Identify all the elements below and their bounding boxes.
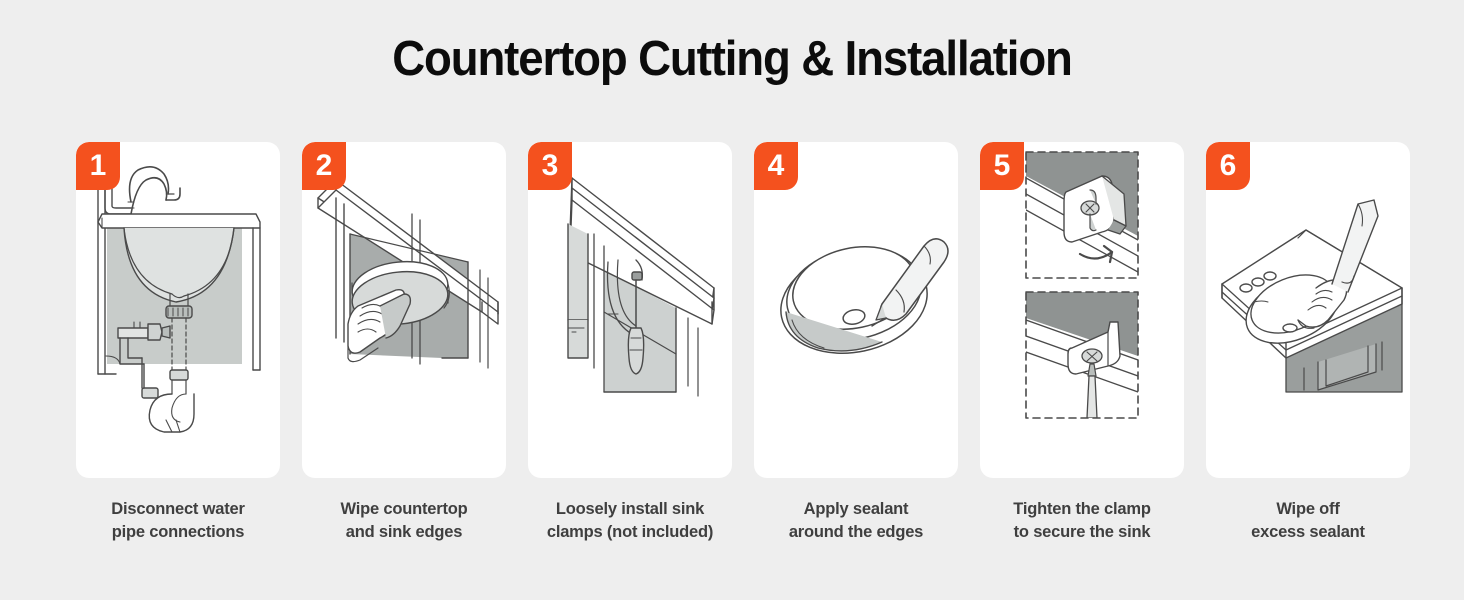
caption-line-1: Disconnect water [76, 498, 280, 521]
caption-line-1: Wipe countertop [302, 498, 506, 521]
step-item: 5 [980, 142, 1184, 544]
step-number-badge: 4 [754, 142, 798, 190]
step-item: 1 [76, 142, 280, 544]
step-item: 4 [754, 142, 958, 544]
illustration-tighten-clamp-to-secure-sink [980, 142, 1184, 478]
page-title: Countertop Cutting & Installation [51, 31, 1413, 87]
caption-line-2: clamps (not included) [528, 521, 732, 544]
illustration-disconnect-water-pipes [76, 142, 280, 478]
caption-line-2: and sink edges [302, 521, 506, 544]
step-caption: Disconnect water pipe connections [76, 498, 280, 544]
step-item: 6 [1206, 142, 1410, 544]
step-card: 2 [302, 142, 506, 478]
step-card: 3 [528, 142, 732, 478]
step-caption: Loosely install sink clamps (not include… [528, 498, 732, 544]
step-card: 5 [980, 142, 1184, 478]
step-item: 2 [302, 142, 506, 544]
infographic-page: Countertop Cutting & Installation 1 [0, 0, 1464, 600]
step-number-badge: 5 [980, 142, 1024, 190]
step-card: 4 [754, 142, 958, 478]
caption-line-2: to secure the sink [980, 521, 1184, 544]
step-caption: Tighten the clamp to secure the sink [980, 498, 1184, 544]
step-item: 3 [528, 142, 732, 544]
caption-line-1: Loosely install sink [528, 498, 732, 521]
step-number-badge: 2 [302, 142, 346, 190]
illustration-wipe-countertop-and-sink-edges [302, 142, 506, 478]
step-card: 6 [1206, 142, 1410, 478]
step-number-badge: 3 [528, 142, 572, 190]
step-card: 1 [76, 142, 280, 478]
caption-line-2: around the edges [754, 521, 958, 544]
step-caption: Apply sealant around the edges [754, 498, 958, 544]
step-number-badge: 1 [76, 142, 120, 190]
caption-line-1: Wipe off [1206, 498, 1410, 521]
step-number-badge: 6 [1206, 142, 1250, 190]
illustration-loosely-install-sink-clamps [528, 142, 732, 478]
illustration-wipe-off-excess-sealant [1206, 142, 1410, 478]
illustration-apply-sealant-around-edges [754, 142, 958, 478]
caption-line-2: excess sealant [1206, 521, 1410, 544]
caption-line-1: Apply sealant [754, 498, 958, 521]
step-caption: Wipe off excess sealant [1206, 498, 1410, 544]
steps-row: 1 [76, 142, 1388, 544]
step-caption: Wipe countertop and sink edges [302, 498, 506, 544]
caption-line-1: Tighten the clamp [980, 498, 1184, 521]
caption-line-2: pipe connections [76, 521, 280, 544]
